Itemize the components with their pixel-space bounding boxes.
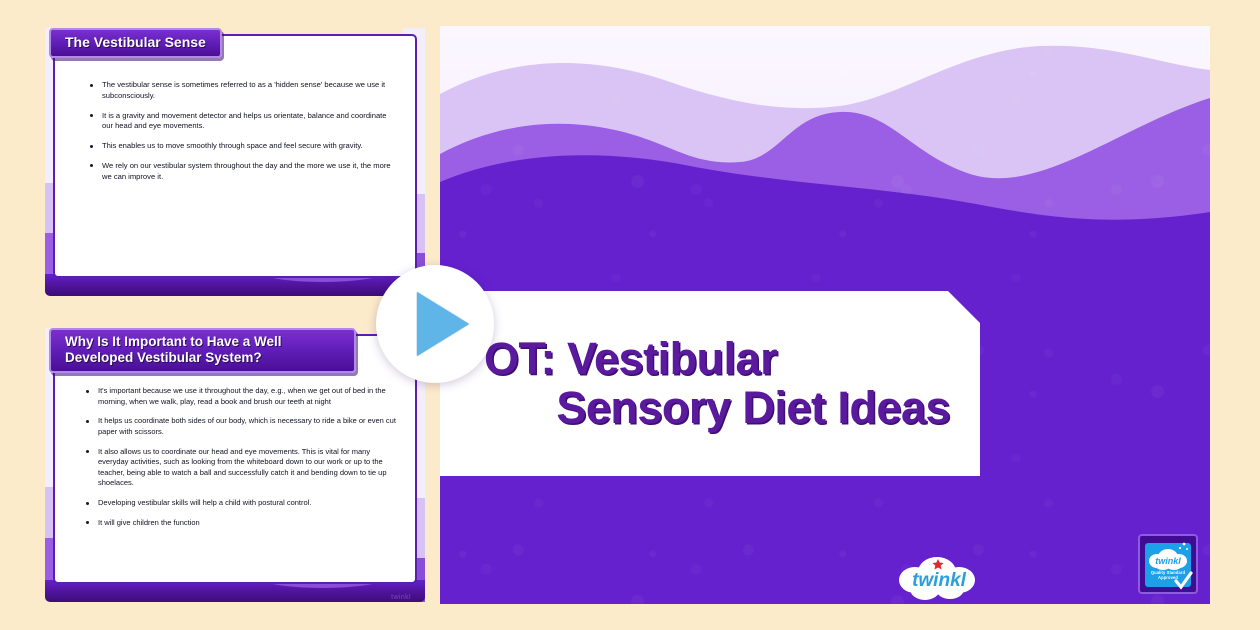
slide-thumbnail-column: twinkl The Vestibular Sense The vestibul… — [45, 28, 425, 602]
list-item: It also allows us to coordinate our head… — [85, 447, 401, 490]
check-icon — [1173, 571, 1193, 591]
slide-bullet-list-2: It's important because we use it through… — [85, 386, 401, 537]
slide-watermark-2: twinkl — [391, 594, 411, 601]
list-item: It's important because we use it through… — [85, 386, 401, 407]
slide-bullet-list-1: The vestibular sense is sometimes referr… — [89, 80, 399, 191]
svg-text:twinkl: twinkl — [1155, 556, 1181, 566]
list-item: It is a gravity and movement detector an… — [89, 111, 399, 133]
list-item: We rely on our vestibular system through… — [89, 161, 399, 183]
page-title-line-1: OT: Vestibular — [484, 335, 954, 384]
slide-thumbnail-2[interactable]: twinkl Why Is It Important to Have a Wel… — [45, 328, 425, 602]
list-item: This enables us to move smoothly through… — [89, 141, 399, 152]
slide-title-banner-2: Why Is It Important to Have a Well Devel… — [49, 328, 356, 373]
main-slide-preview[interactable]: OT: Vestibular Sensory Diet Ideas twinkl — [440, 26, 1210, 604]
list-item: The vestibular sense is sometimes referr… — [89, 80, 399, 102]
wave-decoration — [440, 26, 1210, 266]
slide-content-1: The Vestibular Sense The vestibular sens… — [53, 34, 417, 278]
svg-text:twinkl: twinkl — [912, 570, 967, 591]
main-title-card: OT: Vestibular Sensory Diet Ideas — [440, 291, 980, 476]
slide-content-2: Why Is It Important to Have a Well Devel… — [53, 334, 417, 584]
screenshot-stage: twinkl The Vestibular Sense The vestibul… — [0, 0, 1260, 630]
sparkle-icon — [1177, 540, 1189, 552]
slide-title-banner-1: The Vestibular Sense — [49, 28, 222, 58]
slide-thumbnail-1[interactable]: twinkl The Vestibular Sense The vestibul… — [45, 28, 425, 296]
list-item: It helps us coordinate both sides of our… — [85, 416, 401, 437]
list-item: Developing vestibular skills will help a… — [85, 498, 401, 509]
slide-left-decor-1 — [45, 28, 53, 278]
play-video-button[interactable] — [376, 265, 494, 383]
twinkl-cloud-logo: twinkl — [895, 554, 983, 602]
list-item: It will give children the function — [85, 518, 401, 529]
quality-standard-approved-badge: twinkl Quality Standard Approved — [1138, 534, 1198, 594]
page-title-line-2: Sensory Diet Ideas — [484, 384, 954, 433]
play-triangle-icon — [417, 292, 469, 356]
